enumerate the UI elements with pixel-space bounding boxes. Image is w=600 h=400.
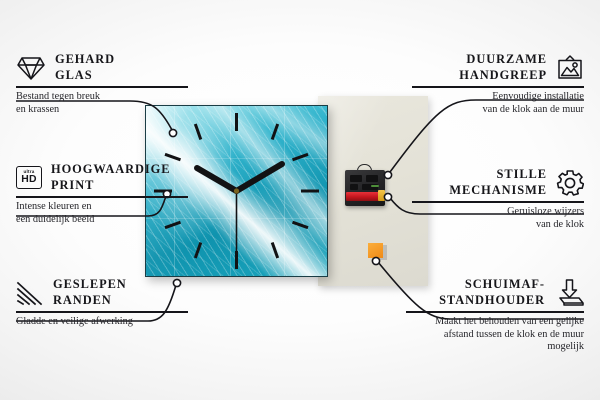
feature-rule [16, 196, 188, 198]
feature-title: GESLEPEN RANDEN [53, 277, 127, 308]
callout-dot-stille-mechanisme [384, 193, 391, 200]
picture-hanger-icon [556, 55, 584, 81]
ultra-hd-icon-large-label: HD [21, 175, 36, 185]
feature-description: Intense kleuren en een duidelijk beeld [16, 201, 188, 226]
beveled-edge-icon [16, 280, 44, 306]
callout-dot-duurzame-handgreep [384, 171, 391, 178]
feature-geslepen-randen: GESLEPEN RANDEN Gladde en veilige afwerk… [16, 277, 188, 329]
diamond-icon [16, 55, 46, 81]
feature-rule [16, 86, 188, 88]
gear-icon [556, 169, 584, 196]
feature-description: Geruisloze wijzers van de klok [412, 206, 584, 231]
infographic-stage: GEHARD GLAS Bestand tegen breuk en krass… [0, 0, 600, 400]
feature-rule [412, 86, 584, 88]
feature-title: GEHARD GLAS [55, 52, 115, 83]
feature-description: Maakt het behouden van een gelijke afsta… [406, 316, 584, 354]
feature-title: DUURZAME HANDGREEP [459, 52, 547, 83]
feature-title: HOOGWAARDIGE PRINT [51, 162, 170, 193]
feature-hoogwaardige-print: ultra HD HOOGWAARDIGE PRINT Intense kleu… [16, 162, 188, 226]
feature-title: STILLE MECHANISME [449, 167, 547, 198]
feature-rule [16, 311, 188, 313]
callout-dot-schuimaf-standhouder [372, 257, 379, 264]
feature-stille-mechanisme: STILLE MECHANISME Geruisloze wijzers van… [412, 167, 584, 231]
ultra-hd-icon: ultra HD [16, 166, 42, 189]
feature-duurzame-handgreep: DUURZAME HANDGREEP Eenvoudige installati… [412, 52, 584, 116]
feature-rule [406, 311, 584, 313]
feature-description: Bestand tegen breuk en krassen [16, 91, 188, 116]
feature-description: Eenvoudige installatie van de klok aan d… [412, 91, 584, 116]
feature-schuimaf-standhouder: SCHUIMAF- STANDHOUDER Maakt het behouden… [406, 277, 584, 354]
foam-spacer-icon [554, 279, 584, 306]
feature-description: Gladde en veilige afwerking [16, 316, 188, 329]
feature-rule [412, 201, 584, 203]
feature-gehard-glas: GEHARD GLAS Bestand tegen breuk en krass… [16, 52, 188, 116]
feature-title: SCHUIMAF- STANDHOUDER [439, 277, 545, 308]
callout-dot-gehard-glas [169, 129, 176, 136]
